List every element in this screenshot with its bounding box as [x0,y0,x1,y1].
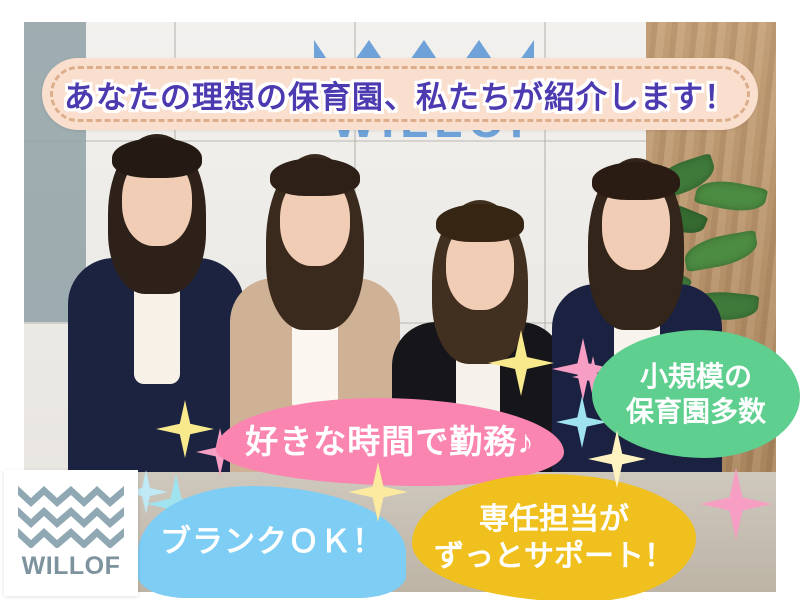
benefit-bubble-dedicated-support-line2: ずっとサポート！ [434,538,674,576]
willof-logo-card[interactable]: WILLOF [4,470,138,596]
benefit-bubble-small-nurseries-line2: 保育園多数 [626,394,766,429]
benefit-bubble-flexible-hours-label: 好きな時間で勤務♪ [245,421,535,462]
willof-card-wordmark: WILLOF [4,552,138,581]
person-4-bangs [592,162,680,200]
benefit-bubble-small-nurseries[interactable]: 小規模の 保育園多数 [592,330,800,458]
person-3-bangs [436,204,524,242]
person-2-bangs [270,158,360,196]
benefit-bubble-blank-ok-label: ブランクＯＫ！ [160,523,384,562]
headline-banner: あなたの理想の保育園、私たちが紹介します！ [42,58,758,130]
willof-zigzag-icon [18,484,124,548]
headline-banner-text: あなたの理想の保育園、私たちが紹介します！ [42,58,758,130]
ad-banner-root: WILLOF [0,0,800,600]
benefit-bubble-small-nurseries-line1: 小規模の [626,359,766,394]
person-1-bangs [112,138,202,178]
benefit-bubble-dedicated-support[interactable]: 専任担当が ずっとサポート！ [412,474,696,600]
benefit-bubble-dedicated-support-line1: 専任担当が [434,501,674,539]
